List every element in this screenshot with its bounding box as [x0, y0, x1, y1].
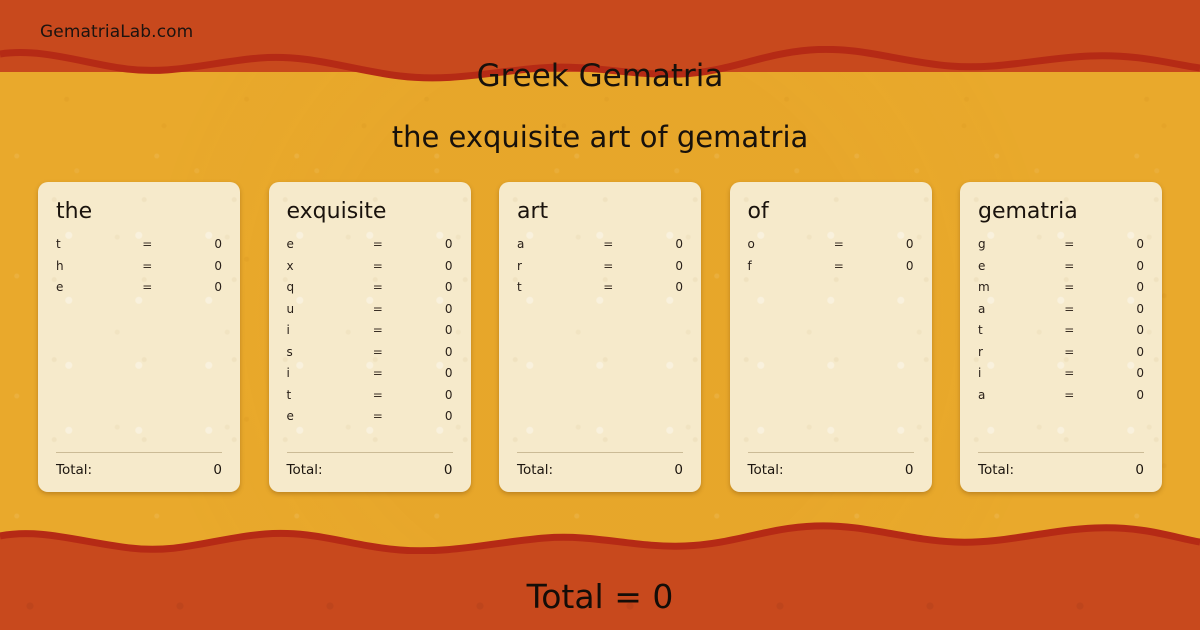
equals-sign: =	[356, 345, 399, 359]
letter-char: f	[748, 259, 818, 273]
card-total-row: Total: 0	[748, 462, 914, 478]
letter-list: o = 0 f = 0	[748, 237, 914, 452]
equals-sign: =	[126, 237, 169, 251]
letter-value: 0	[630, 237, 683, 251]
letter-char: t	[517, 280, 587, 294]
letter-row: r = 0	[978, 345, 1144, 367]
card-total-row: Total: 0	[978, 462, 1144, 478]
letter-row: r = 0	[517, 259, 683, 281]
letter-char: t	[56, 237, 126, 251]
letter-row: s = 0	[287, 345, 453, 367]
letter-row: t = 0	[287, 388, 453, 410]
letter-char: a	[978, 302, 1048, 316]
word-card: exquisite e = 0 x = 0 q = 0 u	[269, 182, 471, 492]
letter-row: h = 0	[56, 259, 222, 281]
letter-list: a = 0 r = 0 t = 0	[517, 237, 683, 452]
letter-value: 0	[399, 366, 452, 380]
card-total-value: 0	[213, 462, 222, 478]
card-total-label: Total:	[56, 462, 92, 478]
card-divider	[748, 452, 914, 453]
letter-list: t = 0 h = 0 e = 0	[56, 237, 222, 452]
equals-sign: =	[1048, 345, 1091, 359]
letter-char: m	[978, 280, 1048, 294]
letter-char: r	[978, 345, 1048, 359]
card-total-value: 0	[1135, 462, 1144, 478]
letter-char: t	[978, 323, 1048, 337]
card-total-row: Total: 0	[56, 462, 222, 478]
equals-sign: =	[1048, 302, 1091, 316]
equals-sign: =	[587, 259, 630, 273]
equals-sign: =	[1048, 388, 1091, 402]
equals-sign: =	[356, 237, 399, 251]
equals-sign: =	[1048, 323, 1091, 337]
letter-value: 0	[1091, 345, 1144, 359]
equals-sign: =	[1048, 259, 1091, 273]
letter-row: i = 0	[978, 366, 1144, 388]
card-total-row: Total: 0	[517, 462, 683, 478]
letter-value: 0	[399, 237, 452, 251]
letter-row: e = 0	[56, 280, 222, 302]
letter-value: 0	[1091, 259, 1144, 273]
letter-row: m = 0	[978, 280, 1144, 302]
letter-value: 0	[399, 280, 452, 294]
equals-sign: =	[126, 280, 169, 294]
card-total-label: Total:	[978, 462, 1014, 478]
letter-list: e = 0 x = 0 q = 0 u = 0	[287, 237, 453, 452]
letter-char: a	[978, 388, 1048, 402]
letter-row: x = 0	[287, 259, 453, 281]
card-total-label: Total:	[748, 462, 784, 478]
letter-value: 0	[860, 237, 913, 251]
letter-row: a = 0	[978, 388, 1144, 410]
word-card: gematria g = 0 e = 0 m = 0 a	[960, 182, 1162, 492]
card-divider	[287, 452, 453, 453]
card-word: the	[56, 200, 222, 223]
bottom-wave-divider	[0, 508, 1200, 554]
word-card: art a = 0 r = 0 t = 0	[499, 182, 701, 492]
letter-row: e = 0	[287, 409, 453, 431]
card-total-label: Total:	[517, 462, 553, 478]
card-word: exquisite	[287, 200, 453, 223]
equals-sign: =	[817, 259, 860, 273]
card-total-label: Total:	[287, 462, 323, 478]
equals-sign: =	[356, 409, 399, 423]
equals-sign: =	[356, 366, 399, 380]
card-word: of	[748, 200, 914, 223]
letter-row: g = 0	[978, 237, 1144, 259]
letter-row: i = 0	[287, 323, 453, 345]
letter-char: i	[287, 366, 357, 380]
letter-char: r	[517, 259, 587, 273]
letter-char: x	[287, 259, 357, 273]
letter-char: o	[748, 237, 818, 251]
letter-value: 0	[399, 388, 452, 402]
letter-char: g	[978, 237, 1048, 251]
letter-row: u = 0	[287, 302, 453, 324]
letter-row: i = 0	[287, 366, 453, 388]
letter-row: o = 0	[748, 237, 914, 259]
letter-value: 0	[1091, 302, 1144, 316]
gematria-result-card: GematriaLab.com Greek Gematria the exqui…	[0, 0, 1200, 630]
card-total-value: 0	[444, 462, 453, 478]
equals-sign: =	[356, 388, 399, 402]
letter-row: t = 0	[56, 237, 222, 259]
equals-sign: =	[356, 280, 399, 294]
equals-sign: =	[356, 302, 399, 316]
page-title: Greek Gematria	[0, 58, 1200, 94]
card-total-row: Total: 0	[287, 462, 453, 478]
word-card: the t = 0 h = 0 e = 0	[38, 182, 240, 492]
equals-sign: =	[356, 259, 399, 273]
letter-value: 0	[1091, 388, 1144, 402]
letter-row: t = 0	[978, 323, 1144, 345]
letter-char: e	[287, 237, 357, 251]
letter-value: 0	[169, 259, 222, 273]
letter-row: t = 0	[517, 280, 683, 302]
letter-char: q	[287, 280, 357, 294]
letter-char: u	[287, 302, 357, 316]
letter-value: 0	[1091, 366, 1144, 380]
equals-sign: =	[587, 237, 630, 251]
letter-value: 0	[1091, 237, 1144, 251]
letter-char: e	[56, 280, 126, 294]
card-total-value: 0	[905, 462, 914, 478]
letter-row: q = 0	[287, 280, 453, 302]
letter-value: 0	[630, 280, 683, 294]
equals-sign: =	[356, 323, 399, 337]
equals-sign: =	[587, 280, 630, 294]
card-total-value: 0	[674, 462, 683, 478]
letter-value: 0	[399, 259, 452, 273]
letter-char: e	[978, 259, 1048, 273]
letter-value: 0	[630, 259, 683, 273]
equals-sign: =	[1048, 237, 1091, 251]
letter-row: e = 0	[978, 259, 1144, 281]
equals-sign: =	[1048, 280, 1091, 294]
card-divider	[978, 452, 1144, 453]
letter-char: s	[287, 345, 357, 359]
letter-row: e = 0	[287, 237, 453, 259]
equals-sign: =	[817, 237, 860, 251]
letter-char: i	[287, 323, 357, 337]
letter-value: 0	[1091, 280, 1144, 294]
equals-sign: =	[1048, 366, 1091, 380]
letter-value: 0	[399, 302, 452, 316]
letter-value: 0	[169, 237, 222, 251]
letter-char: a	[517, 237, 587, 251]
letter-value: 0	[169, 280, 222, 294]
word-card: of o = 0 f = 0 Total: 0	[730, 182, 932, 492]
letter-value: 0	[860, 259, 913, 273]
equals-sign: =	[126, 259, 169, 273]
letter-list: g = 0 e = 0 m = 0 a = 0	[978, 237, 1144, 452]
word-card-list: the t = 0 h = 0 e = 0	[38, 182, 1162, 492]
card-divider	[56, 452, 222, 453]
letter-char: t	[287, 388, 357, 402]
letter-row: f = 0	[748, 259, 914, 281]
letter-value: 0	[1091, 323, 1144, 337]
letter-char: e	[287, 409, 357, 423]
letter-char: i	[978, 366, 1048, 380]
card-divider	[517, 452, 683, 453]
page-subtitle: the exquisite art of gematria	[0, 120, 1200, 154]
card-word: art	[517, 200, 683, 223]
site-brand: GematriaLab.com	[40, 22, 193, 42]
grand-total: Total = 0	[0, 577, 1200, 616]
letter-value: 0	[399, 323, 452, 337]
letter-row: a = 0	[517, 237, 683, 259]
letter-char: h	[56, 259, 126, 273]
letter-value: 0	[399, 345, 452, 359]
letter-row: a = 0	[978, 302, 1144, 324]
card-word: gematria	[978, 200, 1144, 223]
letter-value: 0	[399, 409, 452, 423]
